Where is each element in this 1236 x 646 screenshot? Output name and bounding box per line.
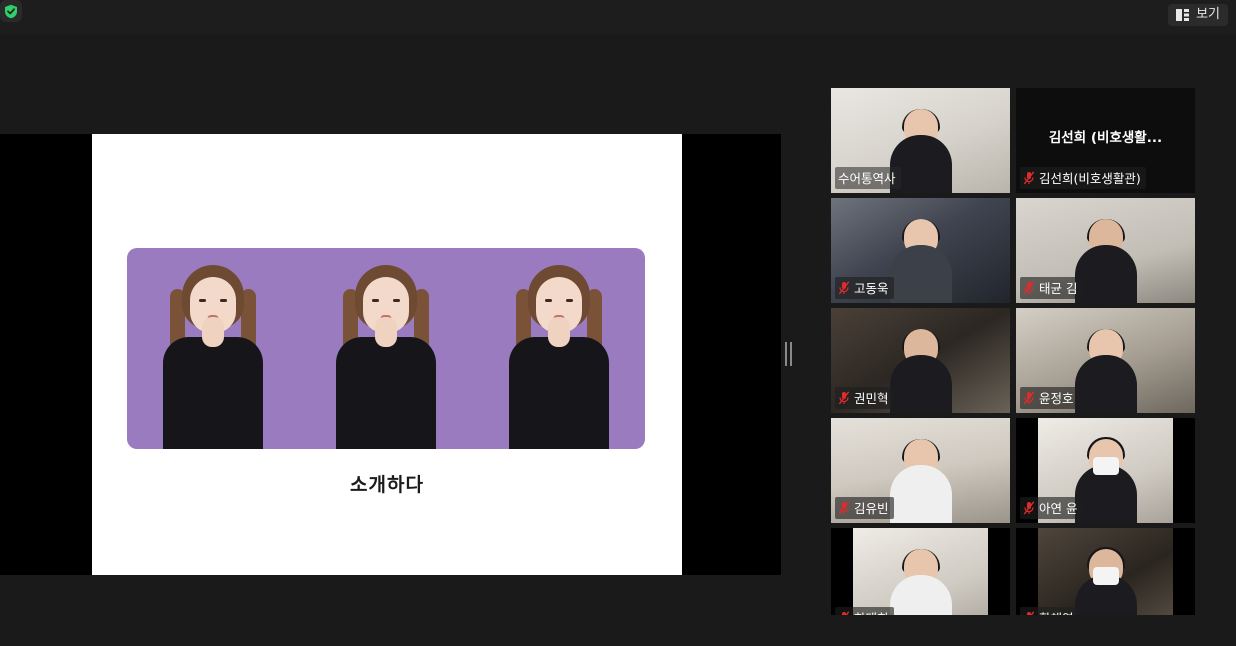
participant-display-name: 김선희 (비호생활... bbox=[1016, 126, 1195, 146]
sign-figure bbox=[154, 259, 272, 449]
participant-name-label: 윤정호 bbox=[1020, 387, 1079, 409]
participant-name-text: 권민혁 bbox=[854, 388, 889, 407]
participant-video bbox=[853, 528, 988, 615]
participant-row: 김유빈아연 윤 bbox=[831, 418, 1195, 523]
participant-name-text: 한태희 bbox=[854, 608, 889, 615]
participant-name-label: 아연 윤 bbox=[1020, 497, 1082, 519]
participant-name-text: 윤정호 bbox=[1039, 388, 1074, 407]
participant-name-label: 권민혁 bbox=[835, 387, 894, 409]
sign-figure bbox=[500, 259, 618, 449]
microphone-off-icon bbox=[1023, 501, 1035, 515]
participant-tile[interactable]: 김유빈 bbox=[831, 418, 1010, 523]
top-bar: 보기 bbox=[0, 0, 1236, 34]
participant-name-label: 황채연 bbox=[1020, 607, 1079, 615]
participant-name-text: 김선희(비호생활관) bbox=[1039, 168, 1141, 187]
participant-name-text: 수어통역사 bbox=[838, 168, 896, 187]
participant-video bbox=[1038, 528, 1173, 615]
microphone-off-icon bbox=[838, 611, 850, 616]
microphone-off-icon bbox=[838, 391, 850, 405]
participant-name-label: 태균 김 bbox=[1020, 277, 1082, 299]
layout-view-icon bbox=[1176, 9, 1190, 21]
participant-tile[interactable]: 황채연 bbox=[1016, 528, 1195, 615]
participant-name-text: 황채연 bbox=[1039, 608, 1074, 615]
sign-figure bbox=[327, 259, 445, 449]
face-mask bbox=[1093, 567, 1119, 585]
participant-row: 한태희황채연 bbox=[831, 528, 1195, 615]
shared-slide: 소개하다 bbox=[92, 134, 682, 575]
participant-tile[interactable]: 아연 윤 bbox=[1016, 418, 1195, 523]
participant-tile[interactable]: 한태희 bbox=[831, 528, 1010, 615]
hand-gesture bbox=[202, 317, 224, 347]
microphone-off-icon bbox=[1023, 391, 1035, 405]
microphone-off-icon bbox=[838, 501, 850, 515]
participant-tile[interactable]: 윤정호 bbox=[1016, 308, 1195, 413]
view-button-label: 보기 bbox=[1196, 4, 1220, 26]
participant-tile[interactable]: 권민혁 bbox=[831, 308, 1010, 413]
slide-caption: 소개하다 bbox=[92, 470, 682, 497]
participant-name-text: 고동욱 bbox=[854, 278, 889, 297]
zoom-meeting-window: 보기 bbox=[0, 0, 1236, 646]
participant-tile[interactable]: 수어통역사 bbox=[831, 88, 1010, 193]
arm bbox=[200, 339, 226, 405]
participant-name-label: 수어통역사 bbox=[835, 167, 901, 189]
face-mask bbox=[1093, 457, 1119, 475]
participant-row: 수어통역사김선희 (비호생활...김선희(비호생활관) bbox=[831, 88, 1195, 193]
participant-name-text: 아연 윤 bbox=[1039, 498, 1077, 517]
view-button[interactable]: 보기 bbox=[1168, 4, 1228, 26]
drag-handle-icon[interactable] bbox=[784, 342, 792, 366]
microphone-off-icon bbox=[1023, 611, 1035, 616]
participant-name-label: 고동욱 bbox=[835, 277, 894, 299]
sign-language-illustration bbox=[127, 248, 645, 449]
participant-tile[interactable]: 고동욱 bbox=[831, 198, 1010, 303]
participant-row: 권민혁윤정호 bbox=[831, 308, 1195, 413]
participant-name-label: 김유빈 bbox=[835, 497, 894, 519]
participant-name-text: 김유빈 bbox=[854, 498, 889, 517]
microphone-off-icon bbox=[1023, 171, 1035, 185]
participant-tile[interactable]: 태균 김 bbox=[1016, 198, 1195, 303]
participant-name-text: 태균 김 bbox=[1039, 278, 1077, 297]
encryption-badge[interactable] bbox=[0, 0, 22, 22]
participant-name-label: 김선희(비호생활관) bbox=[1020, 167, 1146, 189]
microphone-off-icon bbox=[838, 281, 850, 295]
shield-check-icon bbox=[4, 4, 18, 19]
shared-screen-area[interactable]: 소개하다 bbox=[0, 134, 781, 575]
participant-filmstrip[interactable]: 수어통역사김선희 (비호생활...김선희(비호생활관)고동욱태균 김권민혁윤정호… bbox=[831, 88, 1195, 615]
participant-row: 고동욱태균 김 bbox=[831, 198, 1195, 303]
participant-name-label: 한태희 bbox=[835, 607, 894, 615]
microphone-off-icon bbox=[1023, 281, 1035, 295]
participant-tile[interactable]: 김선희 (비호생활...김선희(비호생활관) bbox=[1016, 88, 1195, 193]
